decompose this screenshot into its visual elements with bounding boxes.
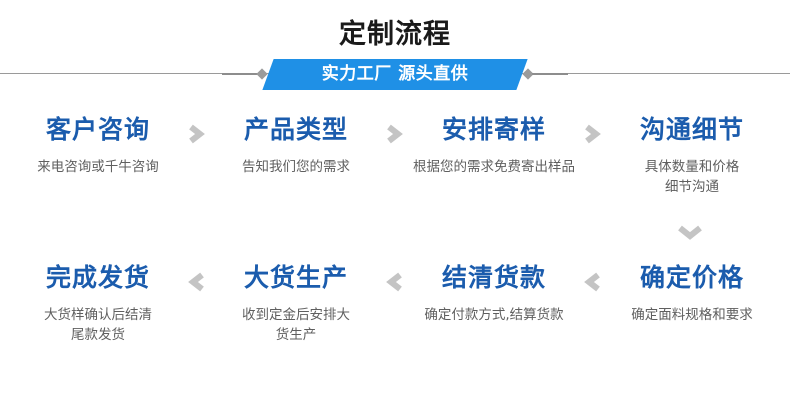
- flow-step-communicate-details: 沟通细节 具体数量和价格 细节沟通: [604, 112, 780, 197]
- header-decoration-left: [222, 70, 266, 78]
- step-description-line2: 货生产: [208, 325, 384, 345]
- step-title: 完成发货: [10, 260, 186, 296]
- flow-step-bulk-production: 大货生产 收到定金后安排大 货生产: [208, 260, 384, 345]
- flow-step-arrange-sample: 安排寄样 根据您的需求免费寄出样品: [406, 112, 582, 177]
- flow-row-2: 完成发货 大货样确认后结清 尾款发货 大货生产 收到定金后安排大 货生产 结: [0, 260, 790, 345]
- chevron-left-icon: [384, 264, 406, 300]
- step-description-line1: 根据您的需求免费寄出样品: [413, 159, 575, 175]
- chevron-right-icon: [186, 116, 208, 152]
- step-description: 告知我们您的需求: [208, 157, 384, 177]
- custom-flow-infographic: 定制流程 实力工厂 源头直供 客户咨询 来电咨询或千牛咨询: [0, 0, 790, 410]
- flow-step-confirm-price: 确定价格 确定面料规格和要求: [604, 260, 780, 325]
- header-decoration-right: [524, 70, 568, 78]
- banner-label: 实力工厂 源头直供: [268, 59, 522, 90]
- flow-step-customer-inquiry: 客户咨询 来电咨询或千牛咨询: [10, 112, 186, 177]
- step-description-line1: 告知我们您的需求: [242, 159, 350, 175]
- chevron-down-icon: [672, 222, 708, 244]
- chevron-left-icon: [186, 264, 208, 300]
- step-title: 大货生产: [208, 260, 384, 296]
- step-title: 沟通细节: [604, 112, 780, 148]
- step-description: 来电咨询或千牛咨询: [10, 157, 186, 177]
- step-description-line1: 收到定金后安排大: [242, 307, 350, 323]
- flow-step-complete-shipment: 完成发货 大货样确认后结清 尾款发货: [10, 260, 186, 345]
- chevron-right-icon: [384, 116, 406, 152]
- step-description-line1: 确定付款方式,结算货款: [424, 307, 563, 323]
- flow-step-product-type: 产品类型 告知我们您的需求: [208, 112, 384, 177]
- page-title: 定制流程: [0, 18, 790, 52]
- flow-step-settle-payment: 结清货款 确定付款方式,结算货款: [406, 260, 582, 325]
- step-title: 确定价格: [604, 260, 780, 296]
- step-description: 确定付款方式,结算货款: [406, 305, 582, 325]
- step-description: 确定面料规格和要求: [604, 305, 780, 325]
- step-description: 具体数量和价格 细节沟通: [604, 157, 780, 197]
- step-title: 结清货款: [406, 260, 582, 296]
- decoration-bar: [222, 73, 258, 75]
- step-title: 产品类型: [208, 112, 384, 148]
- chevron-left-icon: [582, 264, 604, 300]
- flow-row-1: 客户咨询 来电咨询或千牛咨询 产品类型 告知我们您的需求 安排寄样: [0, 112, 790, 197]
- step-title: 安排寄样: [406, 112, 582, 148]
- header-banner: 实力工厂 源头直供: [268, 59, 522, 90]
- step-description-line1: 确定面料规格和要求: [631, 307, 753, 323]
- step-description-line1: 具体数量和价格: [645, 159, 740, 175]
- chevron-right-icon: [582, 116, 604, 152]
- step-description-line2: 细节沟通: [604, 177, 780, 197]
- step-description-line2: 尾款发货: [10, 325, 186, 345]
- step-title: 客户咨询: [10, 112, 186, 148]
- step-description: 根据您的需求免费寄出样品: [406, 157, 582, 177]
- decoration-bar: [532, 73, 568, 75]
- step-description-line1: 大货样确认后结清: [44, 307, 152, 323]
- step-description: 大货样确认后结清 尾款发货: [10, 305, 186, 345]
- step-description-line1: 来电咨询或千牛咨询: [37, 159, 159, 175]
- header: 定制流程 实力工厂 源头直供: [0, 0, 790, 100]
- step-description: 收到定金后安排大 货生产: [208, 305, 384, 345]
